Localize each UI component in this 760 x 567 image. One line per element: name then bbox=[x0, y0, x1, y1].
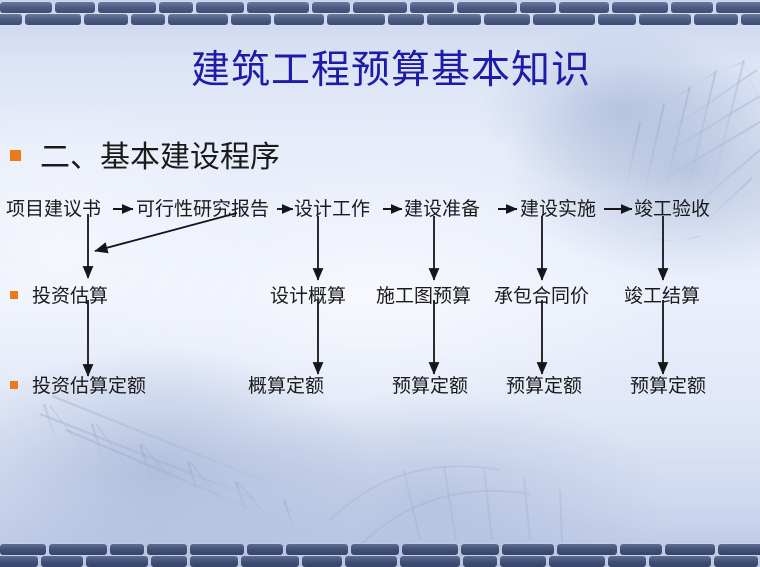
quota-item-0: 投资估算定额 bbox=[32, 374, 146, 398]
estimate-item-4: 竣工结算 bbox=[624, 284, 700, 308]
estimate-item-2: 施工图预算 bbox=[376, 284, 471, 308]
brick-band-bottom bbox=[0, 543, 760, 567]
quota-item-3: 预算定额 bbox=[506, 374, 582, 398]
brick-row bbox=[0, 14, 760, 25]
bullet-square-icon bbox=[10, 291, 18, 299]
slide-title: 建筑工程预算基本知识 bbox=[0, 46, 760, 96]
brick-row bbox=[0, 2, 760, 13]
brick-row bbox=[0, 556, 760, 567]
quota-item-1: 概算定额 bbox=[248, 374, 324, 398]
quota-item-4: 预算定额 bbox=[630, 374, 706, 398]
estimate-item-3: 承包合同价 bbox=[494, 284, 589, 308]
process-step-2: 设计工作 bbox=[294, 197, 370, 221]
quota-item-2: 预算定额 bbox=[392, 374, 468, 398]
section-heading: 二、基本建设程序 bbox=[40, 140, 280, 176]
bullet-square-icon bbox=[10, 150, 21, 161]
process-step-0: 项目建议书 bbox=[6, 197, 101, 221]
process-step-4: 建设实施 bbox=[520, 197, 596, 221]
slide-canvas: 建筑工程预算基本知识 二、基本建设程序 项目建议书 可行性研究报告 设计工作 建… bbox=[0, 0, 760, 567]
estimate-item-0: 投资估算 bbox=[32, 284, 108, 308]
estimate-item-1: 设计概算 bbox=[270, 284, 346, 308]
brick-row bbox=[0, 544, 760, 555]
process-step-1: 可行性研究报告 bbox=[136, 197, 269, 221]
process-step-5: 竣工验收 bbox=[634, 197, 710, 221]
bullet-square-icon bbox=[10, 381, 18, 389]
process-step-3: 建设准备 bbox=[404, 197, 480, 221]
brick-band-top bbox=[0, 0, 760, 26]
